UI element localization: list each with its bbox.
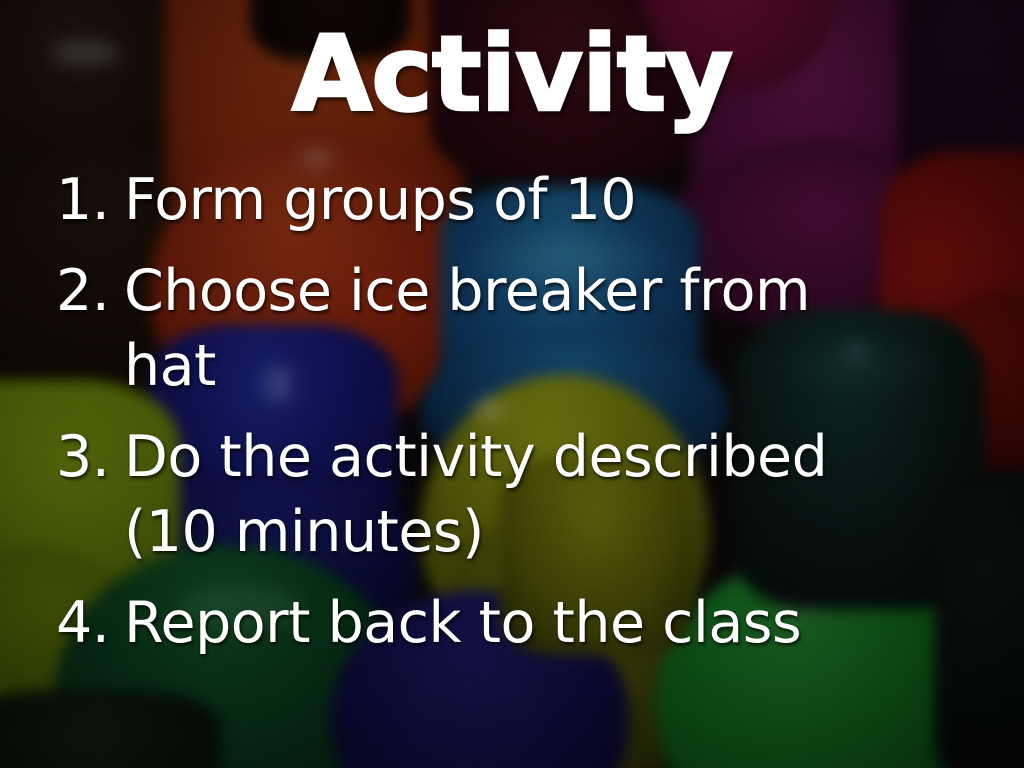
list-item: 2. Choose ice breaker from hat: [52, 254, 852, 404]
slide-title: Activity: [0, 22, 1024, 126]
list-item-marker: 4.: [56, 586, 122, 661]
list-item: 1. Form groups of 10: [52, 163, 852, 238]
list-item-text: Choose ice breaker from hat: [124, 254, 852, 404]
list-item-text: Form groups of 10: [124, 163, 852, 238]
list-item-text: Do the activity described (10 minutes): [124, 420, 852, 570]
presentation-slide: Activity 1. Form groups of 10 2. Choose …: [0, 0, 1024, 768]
list-item-text: Report back to the class: [124, 586, 852, 661]
list-item-marker: 3.: [56, 420, 122, 495]
activity-step-list: 1. Form groups of 10 2. Choose ice break…: [52, 163, 852, 661]
list-item: 3. Do the activity described (10 minutes…: [52, 420, 852, 570]
list-item-marker: 1.: [56, 163, 122, 238]
list-item-marker: 2.: [56, 254, 122, 329]
list-item: 4. Report back to the class: [52, 586, 852, 661]
slide-content: Activity 1. Form groups of 10 2. Choose …: [0, 0, 1024, 768]
